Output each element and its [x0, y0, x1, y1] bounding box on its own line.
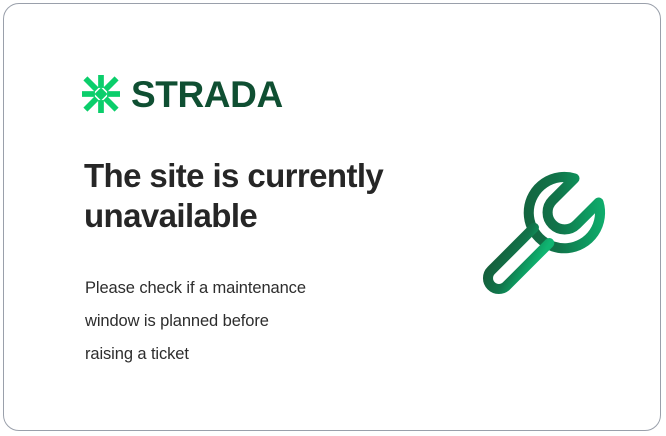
- page-title: The site is currently unavailable: [84, 156, 424, 236]
- brand-wordmark: STRADA: [131, 76, 283, 113]
- description-line: Please check if a maintenance: [85, 272, 395, 305]
- brand-lockup: STRADA: [82, 75, 283, 113]
- wrench-icon: [459, 159, 622, 314]
- status-card: STRADA The site is currently unavailable…: [3, 3, 661, 431]
- page-description: Please check if a maintenance window is …: [85, 272, 395, 371]
- strada-asterisk-icon: [82, 75, 120, 113]
- description-line: window is planned before: [85, 305, 395, 338]
- description-line: raising a ticket: [85, 338, 395, 371]
